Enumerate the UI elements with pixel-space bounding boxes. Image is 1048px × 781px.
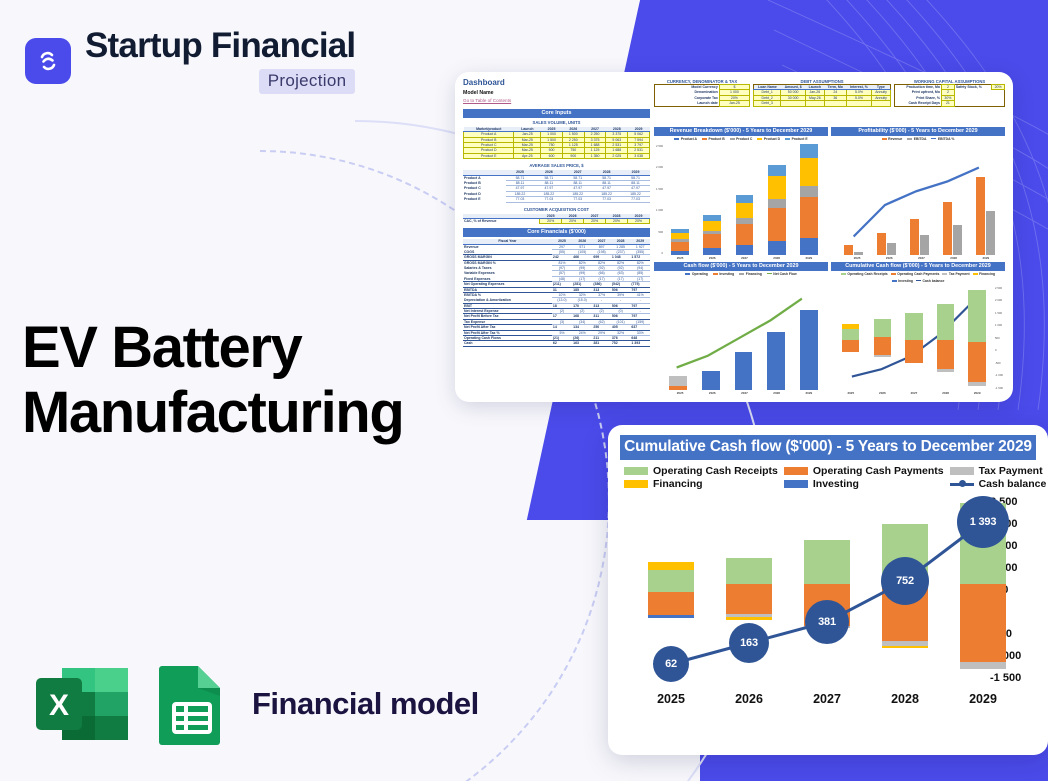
cumulative-chart-plot: 2 500 2 000 1 500 1 000 500 0 -500 -1 00… — [831, 284, 1005, 395]
page-title-line-1: EV Battery — [22, 316, 492, 381]
x-tick-2029: 2029 — [960, 692, 1006, 706]
bar-2029 — [968, 286, 985, 390]
legend-swatch-gray — [950, 467, 974, 475]
core-financials-table: Fiscal Year 2025 2026 2027 2028 2029 Rev… — [463, 239, 650, 347]
legend-label: Investing — [813, 478, 859, 490]
revenue-y-axis: 2 500 2 000 1 500 1 000 500 0 — [654, 144, 663, 255]
legend-label: Cash balance — [979, 478, 1047, 490]
legend-item: Net Cash Flow — [767, 272, 797, 276]
working-capital-block: WORKING CAPITAL ASSUMPTIONS Production t… — [894, 79, 1005, 125]
currency-block-header: CURRENCY, DENOMINATOR & TAX — [654, 79, 750, 84]
dashboard-model-name-label: Model Name — [463, 90, 650, 96]
x-tick-2028: 2028 — [882, 692, 928, 706]
cac-table: 2025 2026 2027 2028 2029 CAC, % of Reven… — [463, 214, 650, 225]
cac-row-label: CAC, % of Revenue — [463, 218, 540, 223]
dashboard-toc-link[interactable]: Go to Table of Contents — [463, 98, 650, 104]
bars-container: 62 163 381 752 1 393 — [626, 496, 984, 684]
profitability-chart[interactable]: Profitability ($'000) - 5 Years to Decem… — [831, 127, 1005, 260]
format-badges: X Financial model — [32, 662, 479, 746]
working-capital-table: Production time, Mo2Safety Stock, %20% P… — [894, 84, 1005, 107]
marker-value: 381 — [818, 616, 836, 628]
x-axis-labels: 2025 2026 2027 2028 2029 — [626, 688, 984, 710]
dashboard-right-column: CURRENCY, DENOMINATOR & TAX Model Curren… — [654, 79, 1005, 395]
cashflow-chart-plot: 2025 2026 2027 2028 2029 — [654, 277, 828, 395]
legend-item-financing[interactable]: Financing — [624, 478, 778, 490]
table-row: Product E77.0377.0377.0377.0377.03 — [463, 197, 650, 202]
bar-2028 — [937, 286, 954, 390]
bar-2028 — [943, 144, 961, 255]
bar-2029 — [800, 279, 818, 390]
x-tick-2026: 2026 — [726, 692, 772, 706]
legend-label: Tax Payment — [979, 465, 1043, 477]
legend-item-tax-payment[interactable]: Tax Payment — [950, 465, 1047, 477]
legend-item: EBITDA — [907, 137, 926, 141]
cashflow-chart[interactable]: Cash flow ($'000) - 5 Years to December … — [654, 262, 828, 395]
legend-swatch-line — [950, 483, 974, 486]
bar-2025 — [671, 144, 689, 255]
bar-2026 — [703, 144, 721, 255]
revenue-bars — [664, 144, 825, 255]
legend-item: Revenue — [882, 137, 903, 141]
legend-item: Tax Payment — [942, 272, 969, 276]
chart-plot-area: 2 500 2 000 1 500 1 000 500 0 -500 -1 00… — [620, 496, 1036, 710]
legend-item: Financing — [973, 272, 996, 276]
cashflow-bars — [662, 279, 825, 390]
legend-item: Product E — [785, 137, 808, 141]
cumulative-cashflow-card[interactable]: Cumulative Cash flow ($'000) - 5 Years t… — [608, 425, 1048, 755]
bar-2026 — [877, 144, 895, 255]
core-inputs-header: Core Inputs — [463, 109, 650, 118]
cumulative-chart-legend: Operating Cash Receipts Operating Cash P… — [831, 271, 1005, 284]
x-tick-2027: 2027 — [804, 692, 850, 706]
sales-volume-table: Market/product Launch 2025 2026 2027 202… — [463, 127, 650, 159]
bar-2027 — [905, 286, 922, 390]
legend-item: Operating Cash Payments — [891, 272, 940, 276]
ef-monogram-icon — [25, 38, 71, 84]
bar-2025 — [842, 286, 859, 390]
marker-value: 1 393 — [970, 516, 997, 528]
cashflow-chart-title: Cash flow ($'000) - 5 Years to December … — [654, 262, 828, 271]
legend-item: Cash balance — [916, 279, 944, 283]
page-title: EV Battery Manufacturing — [22, 316, 492, 446]
data-marker-2026[interactable]: 163 — [729, 623, 769, 663]
data-marker-2027[interactable]: 381 — [805, 600, 849, 644]
bar-2027 — [735, 279, 753, 390]
debt-col: Interest, % — [846, 85, 871, 90]
cac-header: CUSTOMER ACQUISITION COST — [463, 207, 650, 212]
page-title-line-2: Manufacturing — [22, 381, 492, 446]
bar-2025 — [844, 144, 862, 255]
format-badge-label: Financial model — [252, 686, 479, 722]
microsoft-excel-icon: X — [32, 662, 132, 746]
profitability-chart-title: Profitability ($'000) - 5 Years to Decem… — [831, 127, 1005, 136]
table-row: Debt_3 — [754, 101, 891, 106]
bar-2026 — [702, 279, 720, 390]
sales-volume-header: SALES VOLUME, UNITS — [463, 120, 650, 125]
brand-subtitle: Projection — [259, 69, 356, 94]
legend-item-operating-cash-receipts[interactable]: Operating Cash Receipts — [624, 465, 778, 477]
revenue-chart-title: Revenue Breakdown ($'000) - 5 Years to D… — [654, 127, 828, 136]
x-tick-2025: 2025 — [648, 692, 694, 706]
legend-item-operating-cash-payments[interactable]: Operating Cash Payments — [784, 465, 944, 477]
table-row: CAC, % of Revenue 20% 20% 20% 20% 20% — [463, 218, 650, 223]
revenue-chart-plot: 2 500 2 000 1 500 1 000 500 0 — [654, 142, 828, 260]
data-marker-2029[interactable]: 1 393 — [957, 496, 1009, 548]
legend-item: Investing — [713, 272, 734, 276]
marker-value: 62 — [665, 658, 677, 670]
legend-item: Product D — [757, 137, 780, 141]
brand-title: Startup Financial — [85, 28, 355, 63]
marker-value: 163 — [740, 637, 758, 649]
legend-swatch-blue — [784, 480, 808, 488]
core-financials-header: Core Financials ($'000) — [463, 228, 650, 237]
legend-swatch-green — [624, 467, 648, 475]
legend-label: Financing — [653, 478, 703, 490]
bar-2028 — [768, 144, 786, 255]
legend-item-cash-balance[interactable]: Cash balance — [950, 478, 1047, 490]
bar-2027 — [736, 144, 754, 255]
bar-2025 — [669, 279, 687, 390]
legend-label: Operating Cash Receipts — [653, 465, 778, 477]
profitability-chart-plot: 2025 2026 2027 2028 2029 — [831, 142, 1005, 260]
table-row: Product EApr-256009001 3502 0253 038 — [464, 153, 650, 158]
debt-assumptions-block: DEBT ASSUMPTIONS Loan Name Amount, $ Lau… — [753, 79, 891, 125]
bar-2027 — [910, 144, 928, 255]
revenue-breakdown-chart[interactable]: Revenue Breakdown ($'000) - 5 Years to D… — [654, 127, 828, 260]
bar-2029 — [800, 144, 818, 255]
revenue-x-axis: 2025 2026 2027 2028 2029 — [664, 256, 825, 260]
chart-title: Cumulative Cash flow ($'000) - 5 Years t… — [620, 435, 1036, 460]
dashboard-title: Dashboard — [463, 79, 650, 88]
avg-price-table: 2025 2026 2027 2028 2029 Product A58.715… — [463, 170, 650, 202]
legend-item: Operating — [685, 272, 708, 276]
legend-item: Product A — [674, 137, 697, 141]
cumulative-cashflow-chart-mini[interactable]: Cumulative Cash flow ($'000) - 5 Years t… — [831, 262, 1005, 395]
legend-item: Product C — [730, 137, 753, 141]
debt-assumptions-table: Loan Name Amount, $ Launch Term, Mo Inte… — [753, 84, 891, 107]
legend-item: Financing — [739, 272, 762, 276]
legend-swatch-yellow — [624, 480, 648, 488]
cumulative-chart-title: Cumulative Cash flow ($'000) - 5 Years t… — [831, 262, 1005, 271]
data-marker-2028[interactable]: 752 — [881, 557, 929, 605]
dashboard-preview-card[interactable]: Dashboard Model Name Go to Table of Cont… — [455, 72, 1013, 402]
table-row: Cash Receipt Days21 — [895, 101, 1005, 106]
legend-item: Product B — [702, 137, 725, 141]
cumulative-x-axis: 2025 2026 2027 2028 2029 — [835, 391, 993, 395]
profitability-x-axis: 2025 2026 2027 2028 2029 — [841, 256, 1002, 260]
currency-assumptions-block: CURRENCY, DENOMINATOR & TAX Model Curren… — [654, 79, 750, 125]
dashboard-left-column: Dashboard Model Name Go to Table of Cont… — [463, 79, 650, 395]
marker-value: 752 — [896, 575, 914, 587]
debt-col: Loan Name — [754, 85, 781, 90]
bar-2028 — [767, 279, 785, 390]
bar-2026 — [874, 286, 891, 390]
brand-logo: Startup Financial Projection — [25, 28, 355, 94]
cumulative-bars — [835, 286, 993, 390]
legend-item: Operating Cash Receipts — [841, 272, 888, 276]
currency-assumptions-table: Model Currency$ Denomination1 000 Corpor… — [654, 84, 750, 107]
legend-label: Operating Cash Payments — [813, 465, 944, 477]
legend-item: Investing — [892, 279, 913, 283]
cashflow-x-axis: 2025 2026 2027 2028 2029 — [664, 391, 825, 395]
google-sheets-icon — [154, 662, 230, 746]
data-marker-2025[interactable]: 62 — [653, 646, 689, 682]
bar-2029 — [976, 144, 994, 255]
table-row: Cash621633817521 393 — [463, 341, 650, 346]
svg-text:X: X — [49, 689, 69, 722]
legend-item-investing[interactable]: Investing — [784, 478, 944, 490]
avg-price-header: AVERAGE SALES PRICE, $ — [463, 163, 650, 168]
legend-item: EBITDA % — [931, 137, 954, 141]
profitability-bars — [837, 144, 1002, 255]
chart-legend: Operating Cash Receipts Operating Cash P… — [620, 460, 1036, 492]
legend-swatch-orange — [784, 467, 808, 475]
table-row: Launch dateJan-25 — [655, 101, 750, 106]
